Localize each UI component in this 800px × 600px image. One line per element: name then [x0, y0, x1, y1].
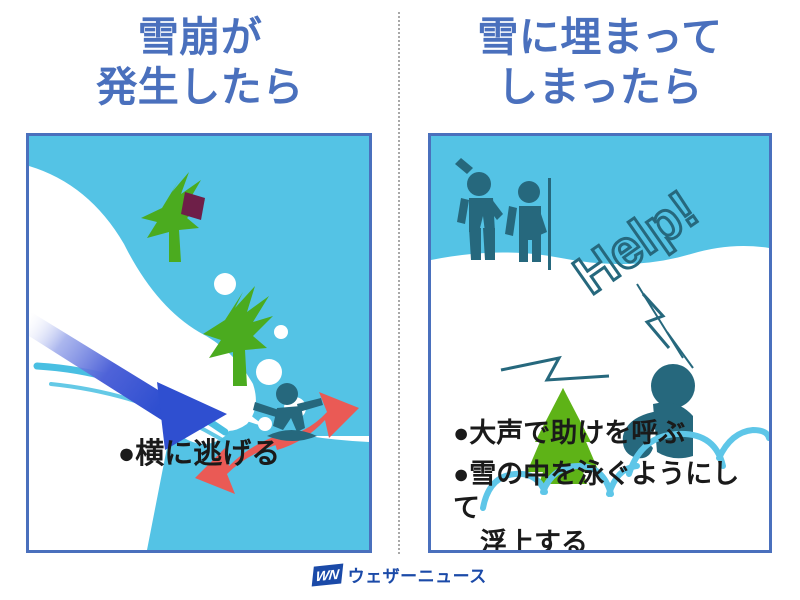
panel-avalanche-occurs: ●横に逃げる — [26, 133, 372, 553]
wn-logo-mark: WN — [312, 563, 344, 586]
snow-chunk-2 — [274, 325, 288, 339]
scene-avalanche-slope — [29, 136, 369, 550]
caption-swim-up: ●雪の中を泳ぐようにして 浮上する — [453, 457, 753, 553]
panel-buried-in-snow: Help! — [428, 133, 772, 553]
snow-chunk-3 — [256, 359, 282, 385]
weathernews-logo: WN ウェザーニュース — [313, 562, 486, 587]
page-title-left: 雪崩が 発生したら — [10, 12, 390, 113]
caption-call-for-help: ●大声で助けを呼ぶ — [453, 416, 753, 451]
footer: WN ウェザーニュース — [0, 562, 800, 587]
weathernews-logo-text: ウェザーニュース — [348, 562, 487, 587]
snow-chunk-1 — [214, 273, 236, 295]
vertical-dotted-divider — [398, 12, 400, 554]
infographic-page: 雪崩が 発生したら 雪に埋まって しまったら — [0, 0, 800, 600]
page-title-right: 雪に埋まって しまったら — [410, 12, 790, 113]
snow-chunk-5 — [258, 417, 272, 431]
snow-chunk-6 — [242, 395, 252, 405]
caption-list-right: ●大声で助けを呼ぶ ●雪の中を泳ぐようにして 浮上する — [453, 416, 753, 553]
caption-escape-sideways: ●横に逃げる — [29, 436, 369, 473]
